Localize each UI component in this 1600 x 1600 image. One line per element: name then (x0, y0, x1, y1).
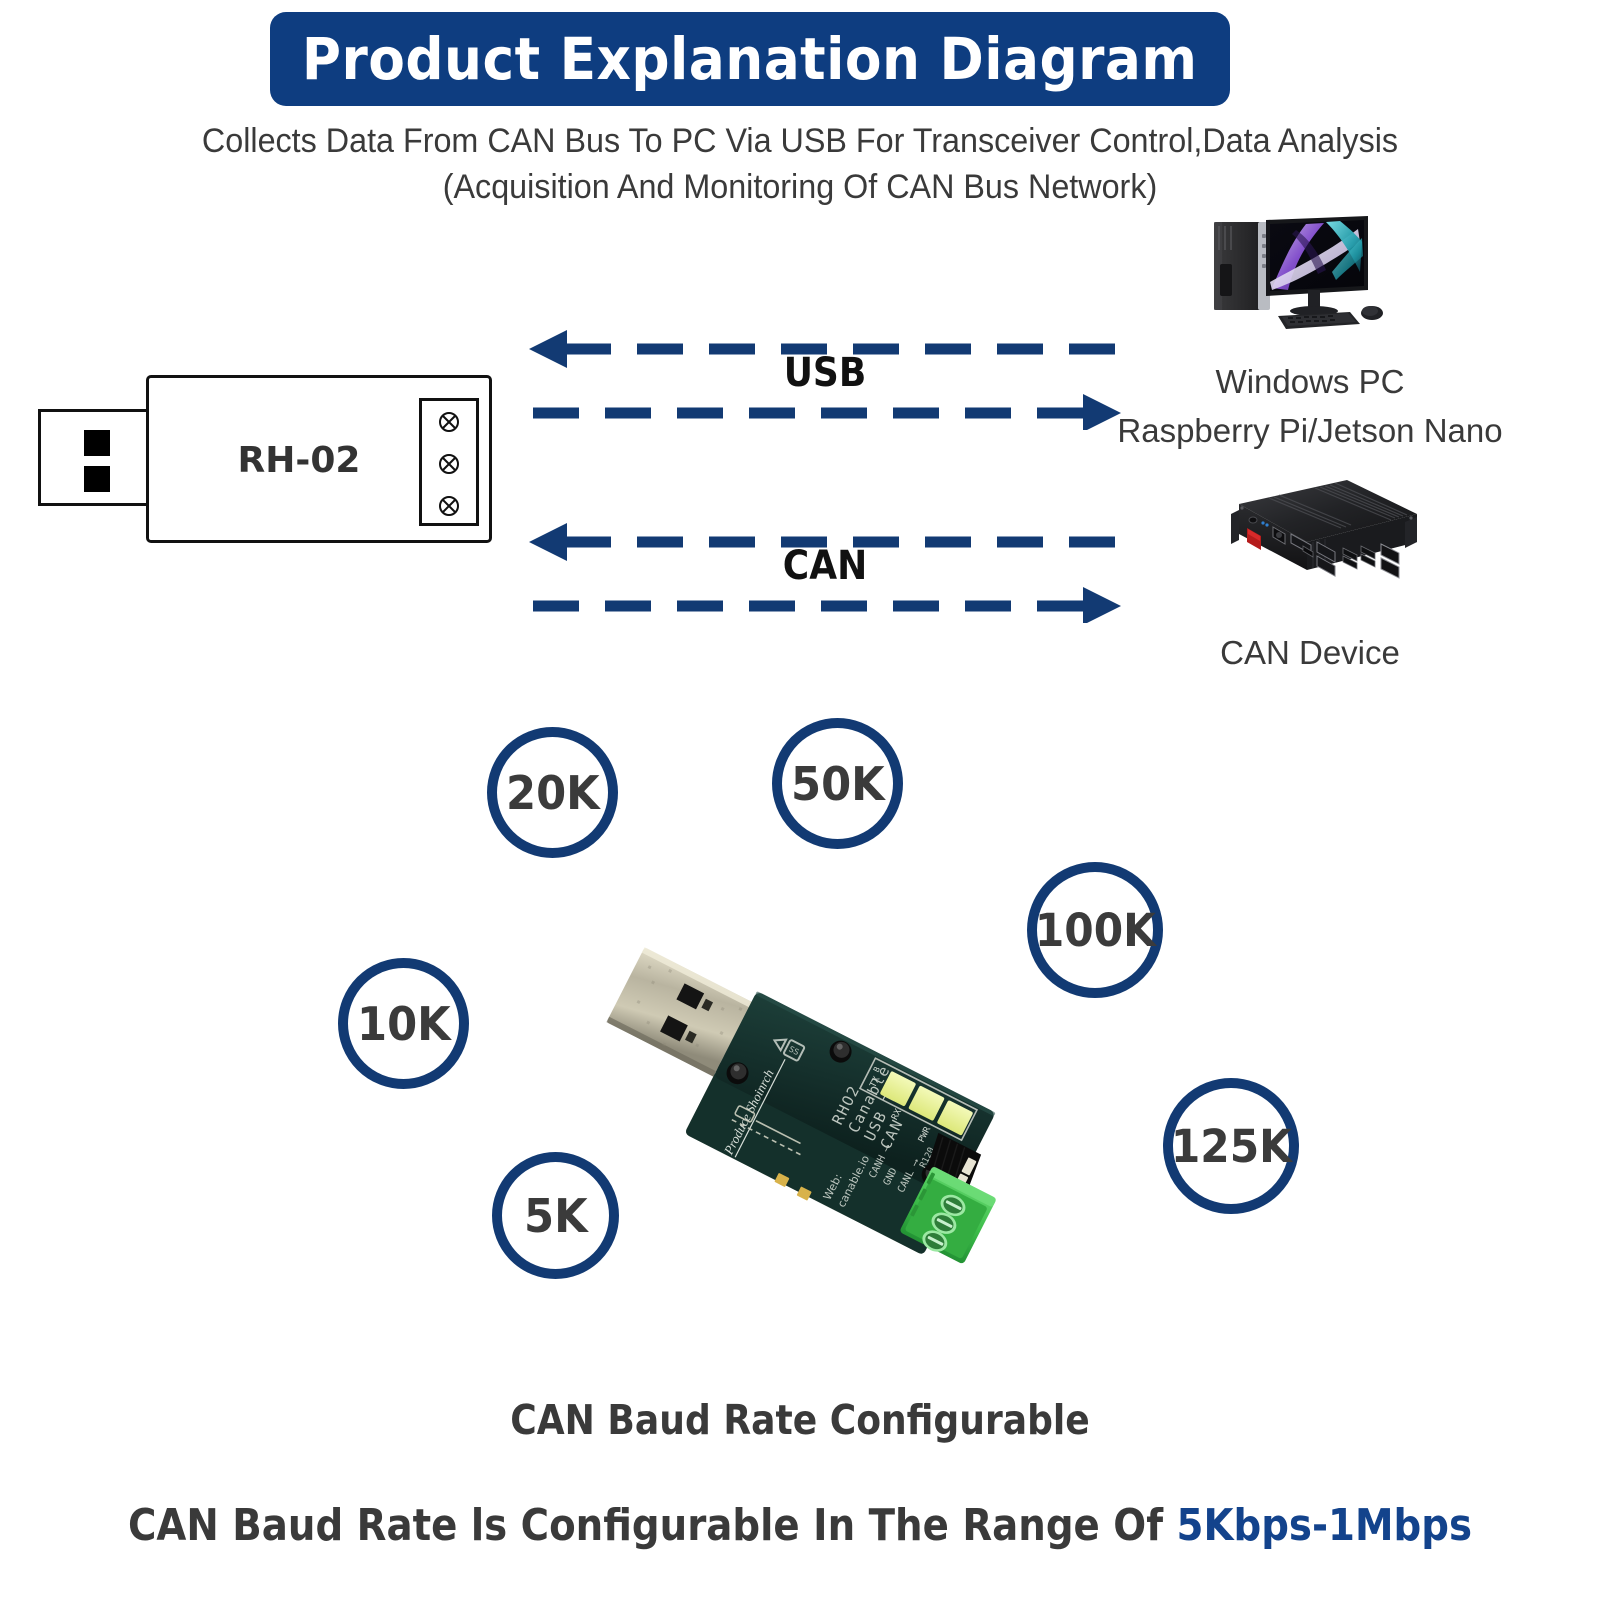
windows-pc-illustration (1200, 212, 1430, 342)
rh02-label: RH-02 (149, 440, 449, 481)
usb-label: USB (555, 350, 1095, 396)
subtitle-line-2: (Acquisition And Monitoring Of CAN Bus N… (40, 168, 1560, 207)
usb-plug-icon (38, 409, 156, 506)
baud-rate-label: 125K (1170, 1120, 1291, 1173)
baud-rate-circle-50k[interactable]: 50K (772, 718, 903, 849)
footer-line-2-prefix: CAN Baud Rate ls Configurable In The Ran… (128, 1500, 1177, 1551)
baud-rate-label: 5K (524, 1189, 588, 1243)
product-explanation-diagram: Product Explanation Diagram Collects Dat… (0, 0, 1600, 1600)
rh02-terminal-block (419, 398, 479, 526)
usb-pin-2 (84, 466, 110, 492)
baud-rate-label: 100K (1034, 904, 1155, 957)
baud-rate-label: 50K (791, 757, 885, 811)
baud-rate-circle-10k[interactable]: 10K (338, 958, 469, 1089)
desktop-computer-icon (1200, 212, 1430, 342)
screw-terminal-icon (438, 495, 460, 517)
can-arrow-right (533, 587, 1121, 623)
baud-rate-label: 10K (357, 997, 451, 1051)
baud-rate-circle-20k[interactable]: 20K (487, 727, 618, 858)
industrial-pc-icon (1195, 470, 1435, 605)
footer-line-2: CAN Baud Rate ls Configurable In The Ran… (96, 1500, 1504, 1551)
baud-rate-circle-125k[interactable]: 125K (1163, 1078, 1299, 1214)
footer-highlight: 5Kbps-1Mbps (1177, 1500, 1472, 1551)
can-connection-arrows: CAN (525, 513, 1125, 623)
footer-line-1: CAN Baud Rate Configurable (96, 1396, 1504, 1444)
title-banner: Product Explanation Diagram (270, 12, 1230, 106)
can-device-illustration (1195, 470, 1435, 605)
can-device-caption: CAN Device (1060, 634, 1560, 672)
screw-terminal-icon (438, 411, 460, 433)
can-label: CAN (555, 543, 1095, 589)
usb-arrow-right (533, 394, 1121, 430)
rh02-device-schematic: RH-02 (38, 375, 498, 555)
screw-terminal-icon (438, 453, 460, 475)
baud-rate-circle-100k[interactable]: 100K (1027, 862, 1163, 998)
usb-pin-1 (84, 430, 110, 456)
pc-caption-line-1: Windows PC (1060, 363, 1560, 401)
page-title: Product Explanation Diagram (302, 25, 1198, 93)
usb-can-adapter-illustration: SS RHO2 Canable USB To CAN TX (560, 865, 1100, 1315)
subtitle-line-1: Collects Data From CAN Bus To PC Via USB… (40, 122, 1560, 161)
baud-rate-label: 20K (506, 766, 600, 820)
product-photo-usb-can-adapter: SS RHO2 Canable USB To CAN TX (560, 865, 1100, 1315)
pc-caption-line-2: Raspberry Pi/Jetson Nano (1060, 412, 1560, 450)
baud-rate-circle-5k[interactable]: 5K (492, 1152, 619, 1279)
usb-connection-arrows: USB (525, 320, 1125, 430)
rh02-body: RH-02 (146, 375, 492, 543)
